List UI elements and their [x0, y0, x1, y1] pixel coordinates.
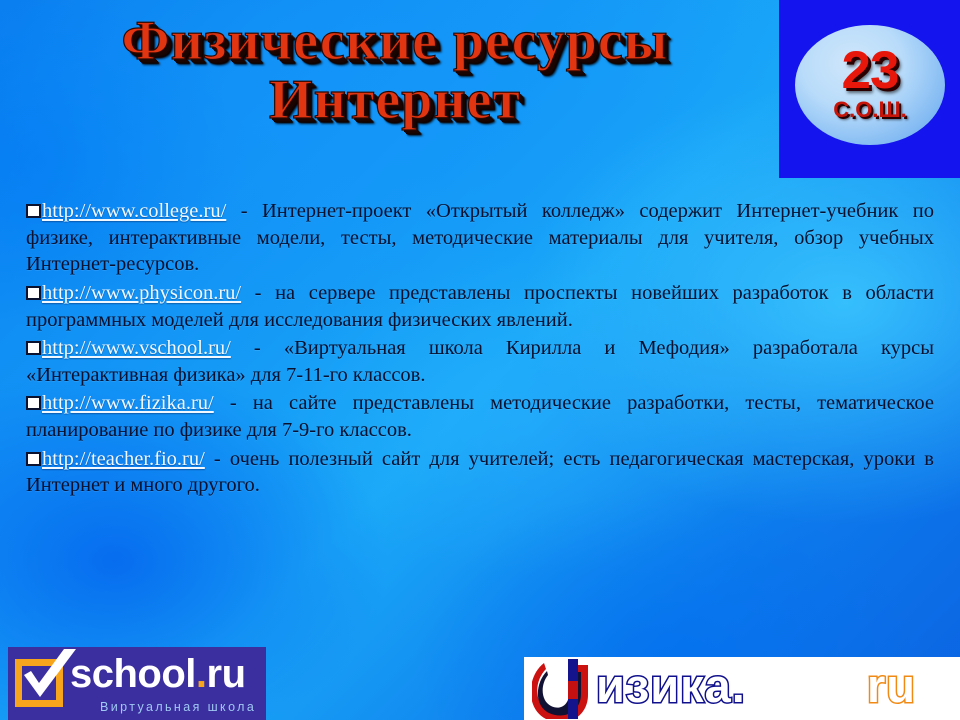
list-item: http://www.vschool.ru/ - «Виртуальная шк… — [26, 335, 934, 388]
square-bullet-icon — [26, 286, 41, 300]
fizika-logo: изика. ru — [524, 657, 960, 720]
school-logo: 23 С.О.Ш. — [779, 0, 960, 178]
vschool-dot: . — [196, 652, 207, 696]
square-bullet-icon — [26, 452, 41, 466]
vschool-tagline: Виртуальная школа — [100, 700, 256, 714]
list-item: http://www.college.ru/ - Интернет-проект… — [26, 198, 934, 278]
vschool-wordmark-text: school — [70, 652, 196, 696]
resource-link-college[interactable]: http://www.college.ru/ — [42, 200, 226, 222]
resource-link-vschool[interactable]: http://www.vschool.ru/ — [42, 337, 231, 359]
square-bullet-icon — [26, 396, 41, 410]
vschool-wordmark: school.ru — [70, 654, 246, 694]
resource-list: http://www.college.ru/ - Интернет-проект… — [26, 198, 934, 499]
school-logo-caption: С.О.Ш. — [833, 97, 906, 123]
fizika-wordmark: изика. — [596, 662, 746, 709]
resource-link-teacher-fio[interactable]: http://teacher.fio.ru/ — [42, 448, 205, 470]
list-item: http://www.physicon.ru/ - на сервере пре… — [26, 280, 934, 333]
resource-link-fizika[interactable]: http://www.fizika.ru/ — [42, 392, 214, 414]
vschool-logo: school.ru Виртуальная школа — [8, 647, 266, 720]
title-line-1: Физические ресурсы — [0, 14, 790, 69]
presentation-slide: Физические ресурсы Интернет 23 С.О.Ш. ht… — [0, 0, 960, 720]
title-line-2: Интернет — [0, 73, 790, 128]
fizika-tld: ru — [867, 662, 916, 709]
school-logo-number: 23 — [842, 47, 899, 96]
slide-title: Физические ресурсы Интернет — [0, 14, 790, 128]
square-bullet-icon — [26, 341, 41, 355]
list-item: http://teacher.fio.ru/ - очень полезный … — [26, 446, 934, 499]
vschool-tld: ru — [207, 652, 246, 696]
list-item: http://www.fizika.ru/ - на сайте предста… — [26, 390, 934, 443]
square-bullet-icon — [26, 204, 41, 218]
school-logo-ellipse: 23 С.О.Ш. — [795, 25, 945, 145]
resource-link-physicon[interactable]: http://www.physicon.ru/ — [42, 282, 241, 304]
